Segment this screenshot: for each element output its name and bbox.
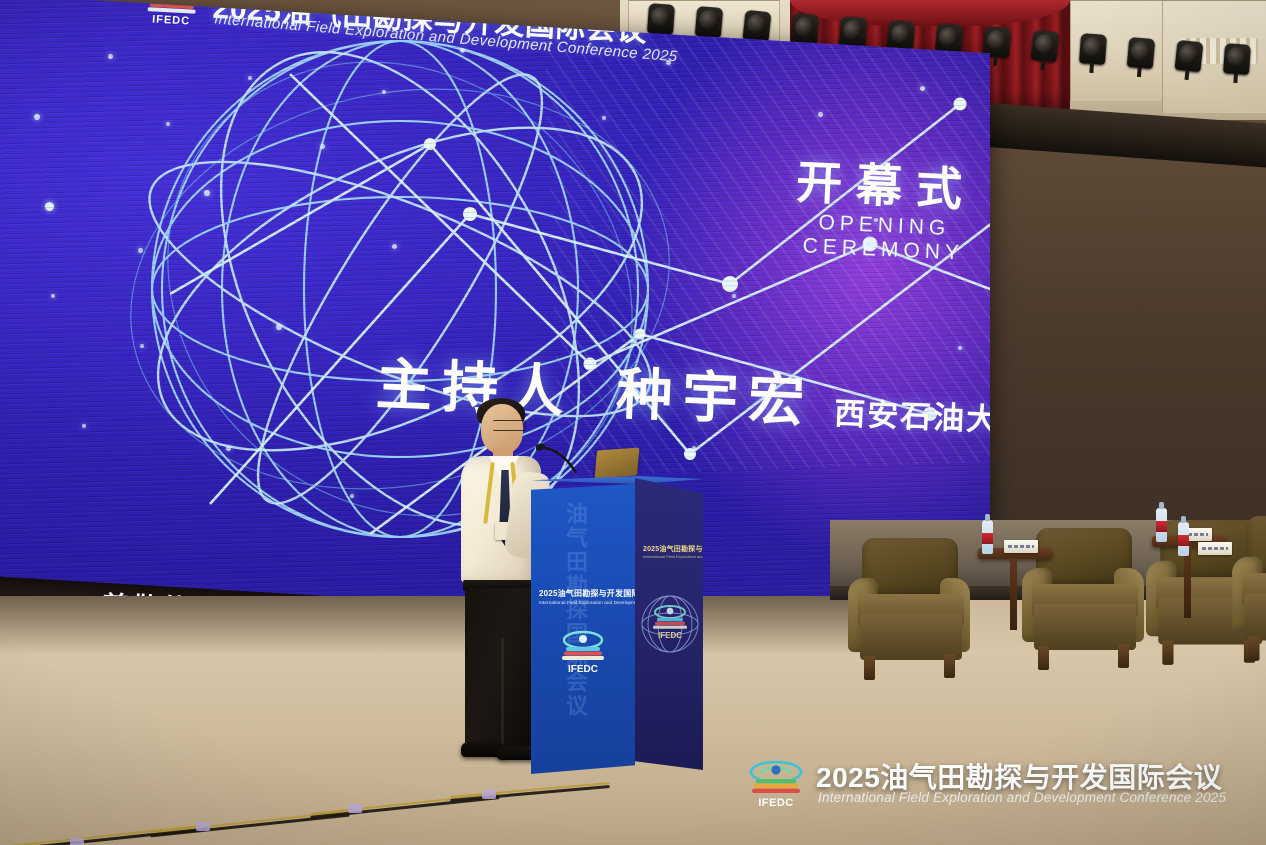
opening-ceremony-block: 开幕式 OPENING CEREMONY xyxy=(778,157,990,267)
particle-dot xyxy=(276,324,282,330)
table-props xyxy=(1186,534,1246,564)
particle-dot xyxy=(108,54,113,59)
name-card xyxy=(1198,542,1232,555)
water-bottle xyxy=(982,520,993,554)
speaker-leg-seam xyxy=(501,638,504,746)
particle-dot xyxy=(382,90,386,94)
host-name-cn: 种宇宏 xyxy=(615,349,816,438)
particle-dot xyxy=(138,248,143,253)
chair-leg xyxy=(1118,644,1129,668)
podium-title-cn: 2025油气田勘探与开发国际会议 xyxy=(539,588,635,599)
particle-dot xyxy=(602,116,606,120)
cable-tape xyxy=(482,790,496,799)
cable-tape xyxy=(348,804,362,813)
particle-dot xyxy=(818,112,823,117)
laptop xyxy=(595,448,640,479)
cable-tape xyxy=(196,822,210,831)
particle-dot xyxy=(320,144,325,149)
side-table-leg xyxy=(1010,558,1017,630)
gooseneck-microphone-icon xyxy=(536,443,592,479)
conference-watermark: IFEDC 2025油气田勘探与开发国际会议 International Fie… xyxy=(744,756,1254,814)
podium-ghost-text: 油气田勘探国际会议 xyxy=(559,502,591,718)
particle-dot xyxy=(45,202,54,211)
podium-side-face: 2025油气田勘探与开发国际会议 International Field Exp… xyxy=(635,478,703,770)
particle-dot xyxy=(226,446,231,451)
podium-side-title-cn: 2025油气田勘探与开发国际会议 xyxy=(643,544,703,554)
svg-text:IFEDC: IFEDC xyxy=(758,797,794,809)
stage-spotlight xyxy=(791,13,819,45)
particle-dot xyxy=(392,244,397,249)
podium-globe-graphic: IFEDC xyxy=(639,566,701,696)
podium-side-title-en: International Field Exploration and Deve… xyxy=(643,554,703,559)
side-table xyxy=(978,548,1052,632)
watermark-title-en: International Field Exploration and Deve… xyxy=(818,790,1226,805)
chair-leg xyxy=(944,654,955,678)
particle-dot xyxy=(82,424,86,428)
cable-tape xyxy=(70,838,84,845)
particle-dot xyxy=(692,446,696,450)
particle-dot xyxy=(958,346,962,350)
particle-dot xyxy=(248,76,252,80)
water-bottle xyxy=(1156,508,1167,542)
stage-spotlight xyxy=(1175,40,1204,73)
particle-dot xyxy=(140,344,144,348)
particle-dot xyxy=(204,190,210,196)
stage-spotlight xyxy=(1127,36,1156,68)
particle-dot xyxy=(166,122,170,126)
stage-spotlight xyxy=(1031,30,1060,63)
particle-dot xyxy=(920,86,925,91)
host-affiliation-cn: 西安石油大学，副校长， xyxy=(833,388,990,448)
particle-dot xyxy=(732,294,736,298)
stage-spotlight xyxy=(1223,43,1251,75)
chair-leg xyxy=(1162,640,1173,664)
podium-front-face: 油气田勘探国际会议 2025油气田勘探与开发国际会议 International… xyxy=(531,484,635,774)
podium-title-en: International Field Exploration and Deve… xyxy=(539,600,635,605)
chair-leg xyxy=(1038,646,1049,670)
svg-text:IFEDC: IFEDC xyxy=(152,13,191,27)
stage-spotlight xyxy=(647,3,675,35)
stage-spotlight xyxy=(1079,33,1107,65)
leather-armchair xyxy=(848,538,972,688)
watermark-ifedc-logo-icon: IFEDC xyxy=(744,758,808,810)
chair-leg xyxy=(864,656,875,680)
stage-spotlight xyxy=(695,6,724,38)
ceremony-title-en: OPENING CEREMONY xyxy=(778,210,990,267)
stage-spotlight xyxy=(839,16,868,48)
podium: 油气田勘探国际会议 2025油气田勘探与开发国际会议 International… xyxy=(531,476,703,776)
particle-dot xyxy=(51,294,55,298)
particle-dot xyxy=(34,114,40,120)
conference-photo: IFEDC 2025油气田勘探与开发国际会议 International Fie… xyxy=(0,0,1266,845)
stage-spotlight xyxy=(743,9,772,42)
svg-text:IFEDC: IFEDC xyxy=(658,631,682,640)
particle-dot xyxy=(460,48,465,53)
particle-dot xyxy=(350,494,354,498)
speaker-glasses xyxy=(492,420,526,431)
podium-ifedc-logo-icon: IFEDC xyxy=(557,628,609,676)
svg-text:IFEDC: IFEDC xyxy=(568,664,598,675)
name-card xyxy=(1004,540,1038,553)
chair-leg xyxy=(1248,636,1259,660)
chair-base xyxy=(1244,594,1266,641)
water-bottle xyxy=(1178,522,1189,556)
ceremony-title-cn: 开幕式 xyxy=(780,157,990,215)
